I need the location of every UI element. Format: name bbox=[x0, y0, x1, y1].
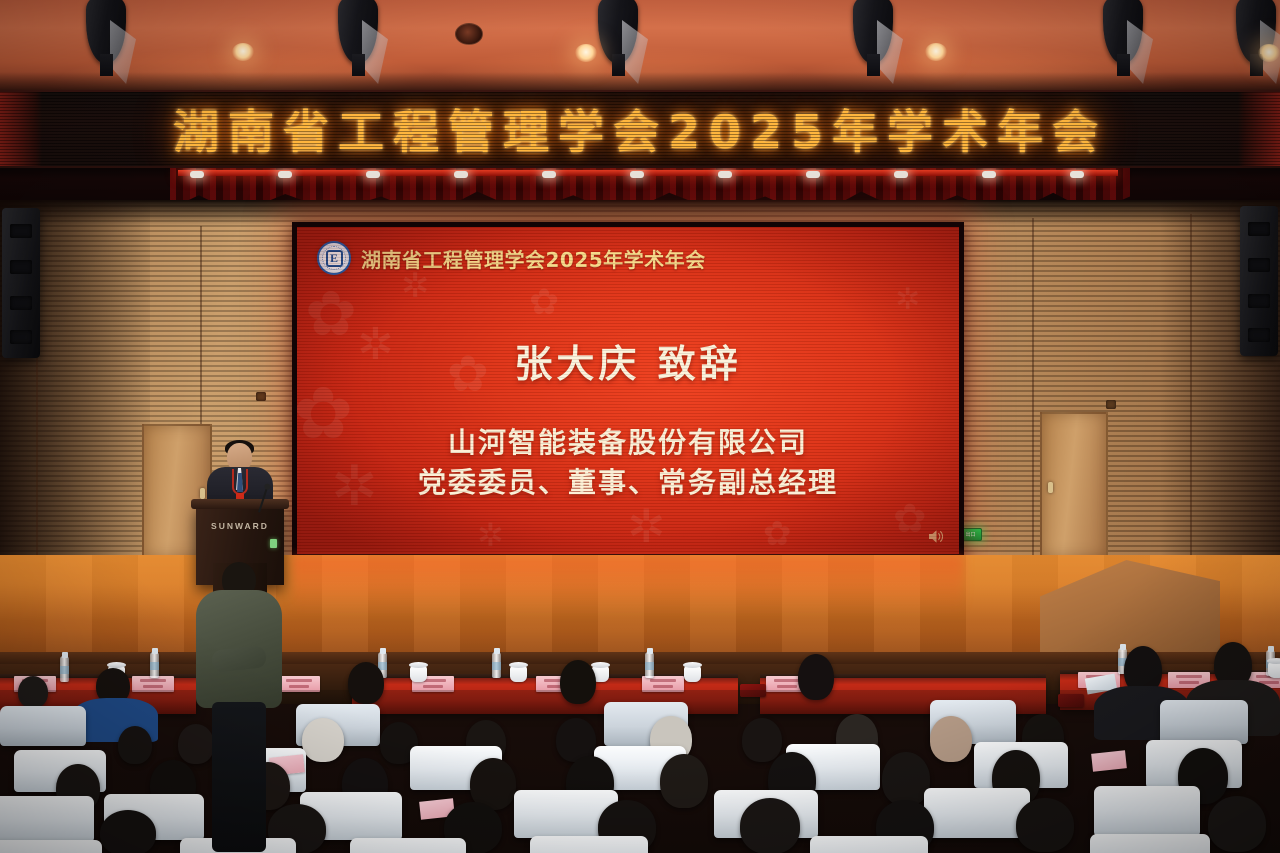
slide-title: 张大庆 致辞 bbox=[297, 333, 959, 388]
attendee-head bbox=[882, 752, 930, 806]
fixture-stem bbox=[867, 54, 880, 76]
podium-indicator-light bbox=[270, 539, 277, 548]
wall-panel-seam bbox=[1190, 214, 1192, 560]
podium-brand-label: SUNWARD bbox=[196, 521, 284, 531]
valance-downlight bbox=[982, 171, 996, 178]
attendee-head bbox=[348, 662, 384, 704]
slide-subtitle-line-2: 党委委员、董事、常务副总经理 bbox=[297, 463, 959, 503]
wall-outlet bbox=[256, 392, 266, 401]
stage-light-fixture bbox=[845, 0, 903, 80]
tea-cup bbox=[410, 666, 427, 682]
audience-chair bbox=[1160, 700, 1248, 744]
speaker-driver bbox=[10, 224, 32, 238]
valance-downlight bbox=[1070, 171, 1084, 178]
led-banner: 湖南省工程管理学会2025年学术年会 bbox=[0, 90, 1280, 168]
standing-attendee-legs bbox=[212, 702, 266, 852]
valance-downlight bbox=[190, 171, 204, 178]
snowflake-watermark: ✿ bbox=[763, 517, 792, 551]
conference-hall-photo: 湖南省工程管理学会2025年学术年会 bbox=[0, 0, 1280, 853]
attendee-head bbox=[660, 754, 708, 808]
water-bottle bbox=[645, 652, 654, 678]
attendee-head bbox=[1208, 796, 1266, 852]
audience-chair bbox=[1094, 786, 1200, 836]
line-array-speaker-left bbox=[2, 208, 40, 358]
valance-downlight bbox=[718, 171, 732, 178]
audience-chair bbox=[530, 836, 648, 853]
speaker-driver bbox=[10, 260, 32, 274]
volume-speaker-icon bbox=[928, 529, 945, 544]
slide-header-text: 湖南省工程管理学会2025年学术年会 bbox=[361, 244, 706, 273]
stage-light-fixture bbox=[78, 0, 136, 80]
valance-downlight bbox=[542, 171, 556, 178]
valance-downlight bbox=[278, 171, 292, 178]
door-knob bbox=[1048, 482, 1053, 493]
logo-ring bbox=[322, 246, 346, 270]
slide-surface: ✿ ✲ ✿ ✲ ✿ ✲ ✿ ✲ ✿ ✲ ✿ ✲ E 湖南省工程管理学会2025年… bbox=[297, 227, 959, 554]
valance-light-strip bbox=[178, 170, 1118, 176]
snowflake-watermark: ✲ bbox=[627, 503, 666, 549]
line-array-speaker-right bbox=[1240, 206, 1278, 356]
led-presentation-screen: ✿ ✲ ✿ ✲ ✿ ✲ ✿ ✲ ✿ ✲ ✿ ✲ E 湖南省工程管理学会2025年… bbox=[292, 222, 964, 559]
attendee-head bbox=[100, 810, 156, 853]
water-bottle bbox=[60, 656, 69, 682]
snowflake-watermark: ✲ bbox=[477, 519, 504, 551]
wall-panel-seam bbox=[1032, 218, 1034, 558]
attendee-head bbox=[118, 726, 152, 764]
valance-downlight bbox=[630, 171, 644, 178]
program-handout bbox=[1091, 750, 1127, 771]
fixture-barndoor bbox=[110, 20, 136, 84]
fixture-stem bbox=[1117, 54, 1130, 76]
water-bottle bbox=[492, 652, 501, 678]
attendee-head bbox=[1016, 798, 1074, 852]
stage-light-fixture bbox=[590, 0, 648, 80]
speaker-driver bbox=[1248, 328, 1270, 342]
tea-cup bbox=[684, 666, 701, 682]
banner-edge-left bbox=[0, 92, 42, 168]
fixture-stem bbox=[612, 54, 625, 76]
exit-sign-label: 出口 bbox=[965, 531, 975, 538]
ceiling-downlight bbox=[1258, 44, 1280, 62]
audience-chair bbox=[1090, 834, 1210, 853]
presenter-lanyard bbox=[232, 469, 248, 495]
audience-chair bbox=[0, 796, 94, 842]
speaker-driver bbox=[1248, 294, 1270, 308]
attendee-head bbox=[740, 798, 800, 853]
slide-header: E 湖南省工程管理学会2025年学术年会 bbox=[317, 241, 706, 275]
attendee-head bbox=[798, 654, 834, 700]
snowflake-watermark: ✲ bbox=[895, 285, 920, 315]
audience-chair bbox=[924, 788, 1030, 838]
valance-downlight bbox=[454, 171, 468, 178]
fixture-barndoor bbox=[1127, 20, 1153, 84]
stage-door-right[interactable] bbox=[1040, 412, 1108, 558]
society-emblem-logo: E bbox=[317, 241, 351, 275]
stage-screen-reflection bbox=[292, 555, 964, 613]
attendee-head bbox=[18, 676, 48, 708]
stage-light-fixture bbox=[1095, 0, 1153, 80]
audience-chair bbox=[0, 840, 102, 853]
stage-light-fixture bbox=[330, 0, 388, 80]
fixture-stem bbox=[100, 54, 113, 76]
ceiling-downlight bbox=[232, 43, 254, 61]
speaker-driver bbox=[1248, 258, 1270, 272]
speaker-driver bbox=[1248, 222, 1270, 236]
ceiling-downlight bbox=[925, 43, 947, 61]
podium-top bbox=[191, 499, 289, 509]
standing-attendee bbox=[196, 560, 282, 853]
ceiling-speaker-icon bbox=[455, 23, 483, 45]
audience-chair bbox=[810, 836, 928, 853]
attendee-head bbox=[560, 660, 596, 704]
ceiling-downlight bbox=[575, 44, 597, 62]
attendee-head bbox=[302, 718, 344, 762]
audience-chair bbox=[350, 838, 466, 853]
water-bottle bbox=[150, 652, 159, 678]
fixture-stem bbox=[352, 54, 365, 76]
audience-area bbox=[0, 690, 1280, 853]
tea-cup bbox=[510, 666, 527, 682]
fixture-barndoor bbox=[877, 20, 903, 84]
fixture-barndoor bbox=[362, 20, 388, 84]
snowflake-watermark: ✿ bbox=[529, 285, 559, 321]
speaker-driver bbox=[10, 296, 32, 310]
attendee-head bbox=[930, 716, 972, 762]
valance-downlight bbox=[894, 171, 908, 178]
fixture-barndoor bbox=[622, 20, 648, 84]
audience-chair bbox=[0, 706, 86, 746]
speaker-driver bbox=[10, 330, 32, 344]
valance-downlight bbox=[806, 171, 820, 178]
banner-edge-right bbox=[1238, 92, 1280, 168]
slide-subtitle: 山河智能装备股份有限公司 党委委员、董事、常务副总经理 bbox=[297, 423, 959, 503]
wall-outlet bbox=[1106, 400, 1116, 409]
snowflake-watermark: ✿ bbox=[893, 499, 927, 539]
valance-downlight bbox=[366, 171, 380, 178]
attendee-head bbox=[742, 718, 782, 762]
tea-cup bbox=[1268, 662, 1280, 678]
stage-light-fixture bbox=[1228, 0, 1280, 80]
slide-subtitle-line-1: 山河智能装备股份有限公司 bbox=[297, 423, 959, 463]
led-banner-text: 湖南省工程管理学会2025年学术年会 bbox=[0, 96, 1280, 162]
